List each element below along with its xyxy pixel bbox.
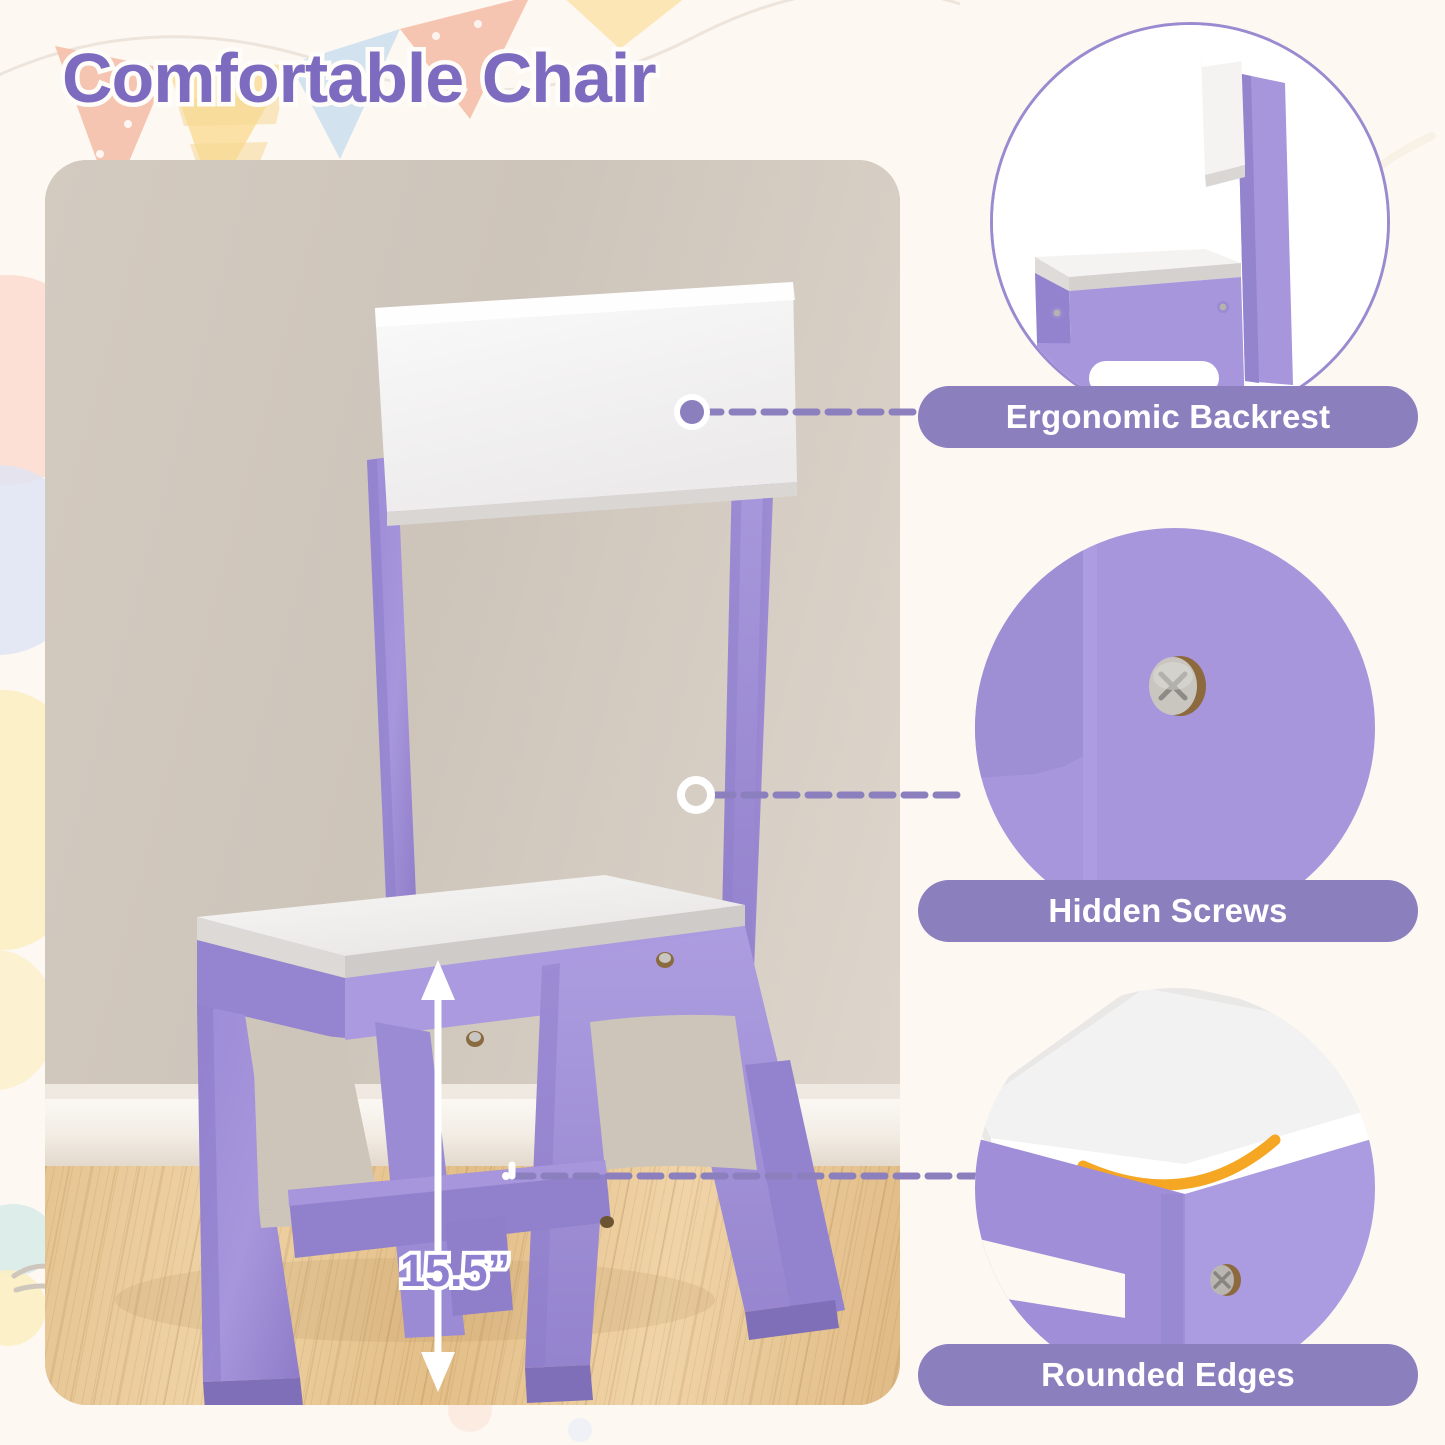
detail-circle-hidden-screws <box>975 528 1375 928</box>
dimension-label: 15.5” <box>400 1245 510 1297</box>
detail-circle-ergonomic-backrest <box>990 22 1390 422</box>
backrest-side-view <box>993 25 1390 422</box>
screw-head-icon <box>656 952 674 968</box>
infographic-canvas: × × <box>0 0 1445 1445</box>
hidden-screw-closeup <box>975 528 1375 928</box>
page-title: Comfortable Chair <box>62 38 656 118</box>
screw-head-icon <box>466 1031 484 1047</box>
screw-head-icon <box>600 1216 614 1228</box>
chair-illustration <box>45 160 900 1405</box>
feature-label-ergonomic-backrest: Ergonomic Backrest <box>918 386 1418 448</box>
detail-circle-rounded-edges <box>975 988 1375 1388</box>
feature-label-hidden-screws: Hidden Screws <box>918 880 1418 942</box>
rounded-edge-closeup <box>975 988 1375 1388</box>
feature-label-rounded-edges: Rounded Edges <box>918 1344 1418 1406</box>
main-product-photo: 15.5” <box>45 160 900 1405</box>
